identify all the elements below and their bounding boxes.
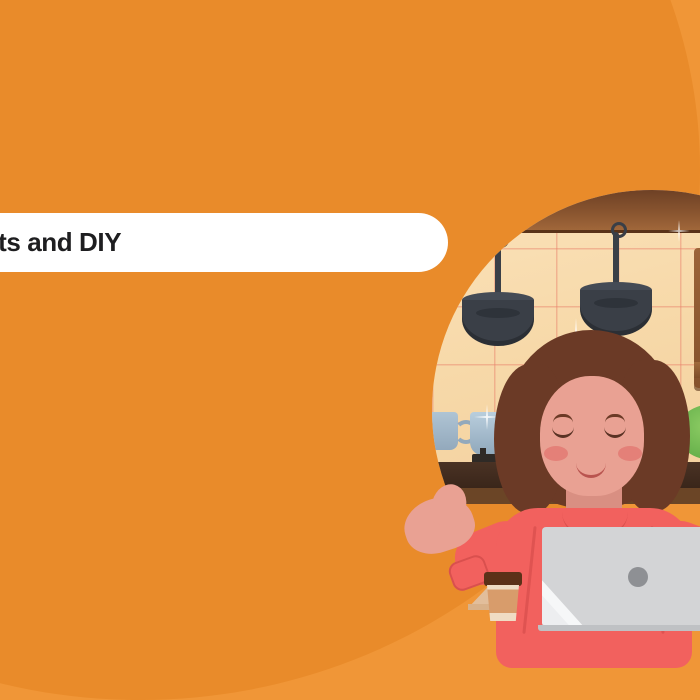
pan-inner — [594, 298, 638, 308]
coffee-cup-icon — [487, 572, 519, 620]
cup-lid — [484, 572, 522, 586]
pan-hook-icon — [493, 232, 509, 248]
upper-cabinet-band — [432, 190, 700, 233]
pan-hook-icon — [611, 222, 627, 238]
eyebrow-left — [553, 414, 573, 423]
laptop-icon — [542, 527, 700, 627]
cup-body — [487, 585, 519, 621]
category-badge-label: Home Improvements and DIY — [0, 227, 121, 258]
category-badge[interactable]: Home Improvements and DIY — [0, 213, 448, 272]
eyebrow-right — [605, 414, 625, 423]
laptop-base — [538, 625, 700, 631]
cheek-left — [544, 446, 568, 461]
laptop-highlight — [542, 527, 608, 627]
pan-inner — [476, 308, 520, 318]
banner-canvas: Home Improvements and DIY HOME, A MIND — [0, 0, 700, 700]
laptop-lid — [542, 527, 700, 627]
laptop-logo — [628, 567, 648, 587]
face — [540, 376, 644, 496]
cheek-right — [618, 446, 642, 461]
